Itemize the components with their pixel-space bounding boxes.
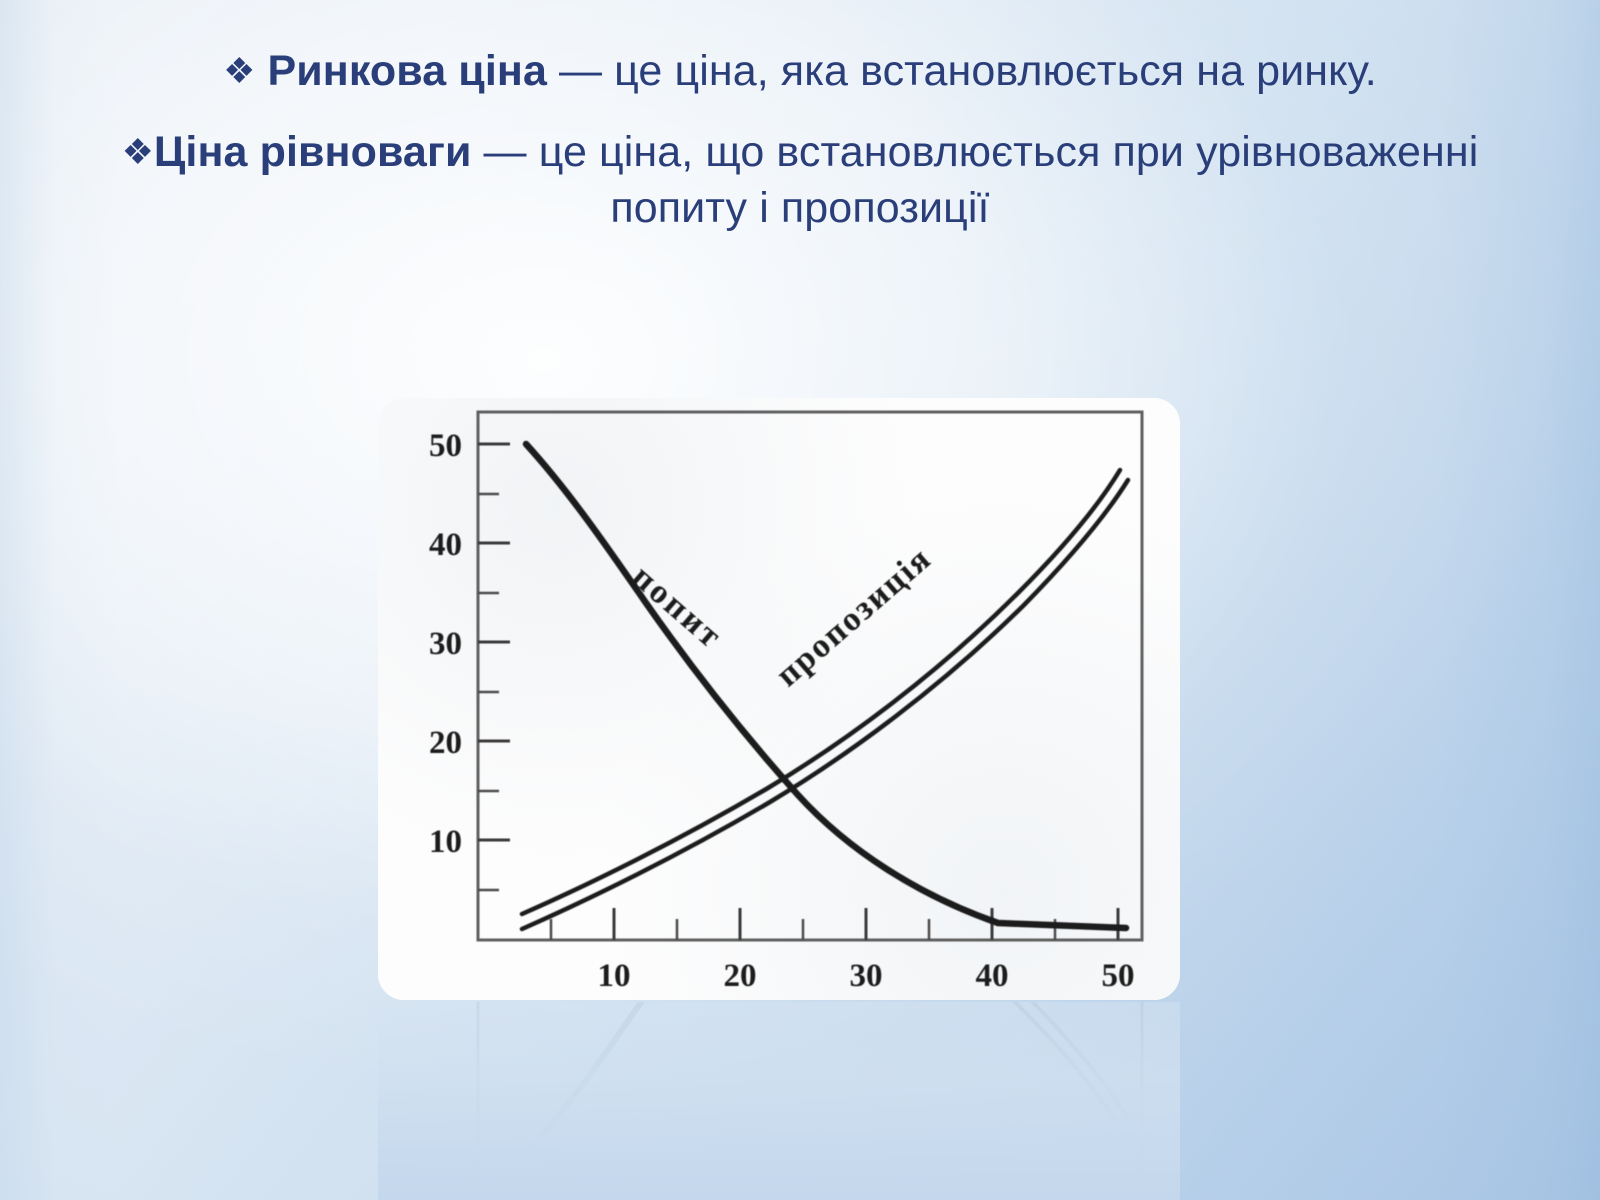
- bullet-paragraph-equilibrium-price: ❖Ціна рівноваги — це ціна, що встановлює…: [0, 125, 1600, 237]
- bullet-lead-term-2: Ціна рівноваги: [154, 128, 472, 176]
- x-tick-label-30: 30: [850, 958, 883, 994]
- x-tick-label-50: 50: [1102, 958, 1135, 994]
- reflection-fade-overlay: [378, 1002, 1180, 1200]
- supply-demand-chart: 50 40 30 20 10 10 20 30 40 50: [378, 398, 1180, 1000]
- y-axis-major-ticks: [478, 444, 510, 840]
- bullet-paragraph-market-price: ❖ Ринкова ціна — це ціна, яка встановлює…: [0, 44, 1600, 100]
- y-tick-label-50: 50: [429, 428, 462, 464]
- diamond-bullet-icon: ❖: [223, 50, 255, 91]
- demand-curve: [526, 444, 1126, 928]
- diamond-bullet-icon: ❖: [122, 131, 154, 172]
- y-tick-label-10: 10: [429, 824, 462, 860]
- supply-curve: [522, 470, 1128, 929]
- chart-image-card: 50 40 30 20 10 10 20 30 40 50: [378, 398, 1180, 1000]
- chart-card-reflection: 10 20 30 40 50: [378, 1002, 1180, 1200]
- bullet-lead-term-1: Ринкова ціна: [267, 47, 547, 95]
- x-tick-label-20: 20: [724, 958, 757, 994]
- slide-canvas: ❖ Ринкова ціна — це ціна, яка встановлює…: [0, 0, 1600, 1200]
- bullet-body-text-1: — це ціна, яка встановлюється на ринку.: [547, 47, 1377, 95]
- bullet-body-text-2: — це ціна, що встановлюється при урівнов…: [472, 128, 1479, 232]
- y-tick-label-30: 30: [429, 626, 462, 662]
- y-tick-label-20: 20: [429, 725, 462, 761]
- supply-curve-label: пропозиція: [769, 540, 939, 694]
- mirrored-chart: 10 20 30 40 50: [378, 1002, 1180, 1200]
- y-axis-minor-ticks: [478, 494, 499, 890]
- x-tick-label-10: 10: [598, 958, 631, 994]
- x-tick-label-40: 40: [976, 958, 1009, 994]
- text-content-block: ❖ Ринкова ціна — це ціна, яка встановлює…: [0, 44, 1600, 237]
- x-axis-minor-ticks: [551, 919, 1055, 940]
- y-tick-label-40: 40: [429, 527, 462, 563]
